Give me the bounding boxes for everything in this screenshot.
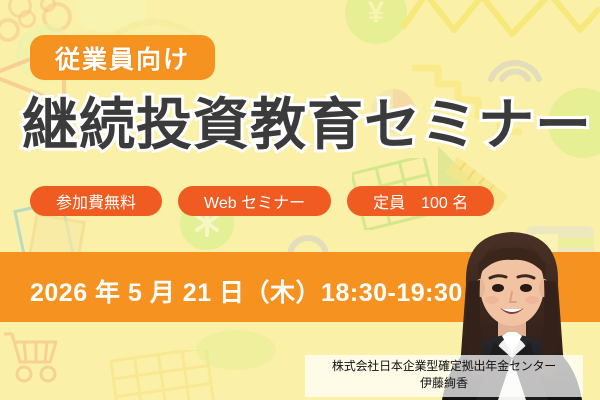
presenter-organization: 株式会社日本企業型確定拠出年金センター [309,358,579,375]
audience-tag-label: 従業員向け [55,40,190,76]
presenter-name: 伊藤絢香 [309,375,579,392]
yen-symbol: ¥ [368,0,385,30]
feature-pill-capacity: 定員 100 名 [347,186,494,216]
ring-outline-icon [0,18,20,42]
ring-outline-icon [18,10,36,28]
blob-shape [196,330,276,370]
seminar-poster: ¥ [0,0,600,400]
feature-pill-row: 参加費無料 Web セミナー 定員 100 名 [30,186,494,216]
shopping-cart-icon [2,328,66,384]
feature-pill-capacity-label: 定員 100 名 [373,189,468,213]
feature-pill-format: Web セミナー [178,186,331,216]
presenter-caption: 株式会社日本企業型確定拠出年金センター 伊藤絢香 [305,355,583,397]
schedule-text: 2026 年 5 月 21 日（木）18:30-19:30 [30,273,463,309]
audience-tag: 従業員向け [30,35,215,80]
page-title: 継続投資教育セミナー [22,96,592,155]
feature-pill-fee-label: 参加費無料 [56,189,136,213]
coin-yen-icon: ¥ [345,0,407,44]
wifi-arc-icon [485,45,545,83]
feature-pill-fee: 参加費無料 [30,186,162,216]
feature-pill-format-label: Web セミナー [204,189,305,213]
